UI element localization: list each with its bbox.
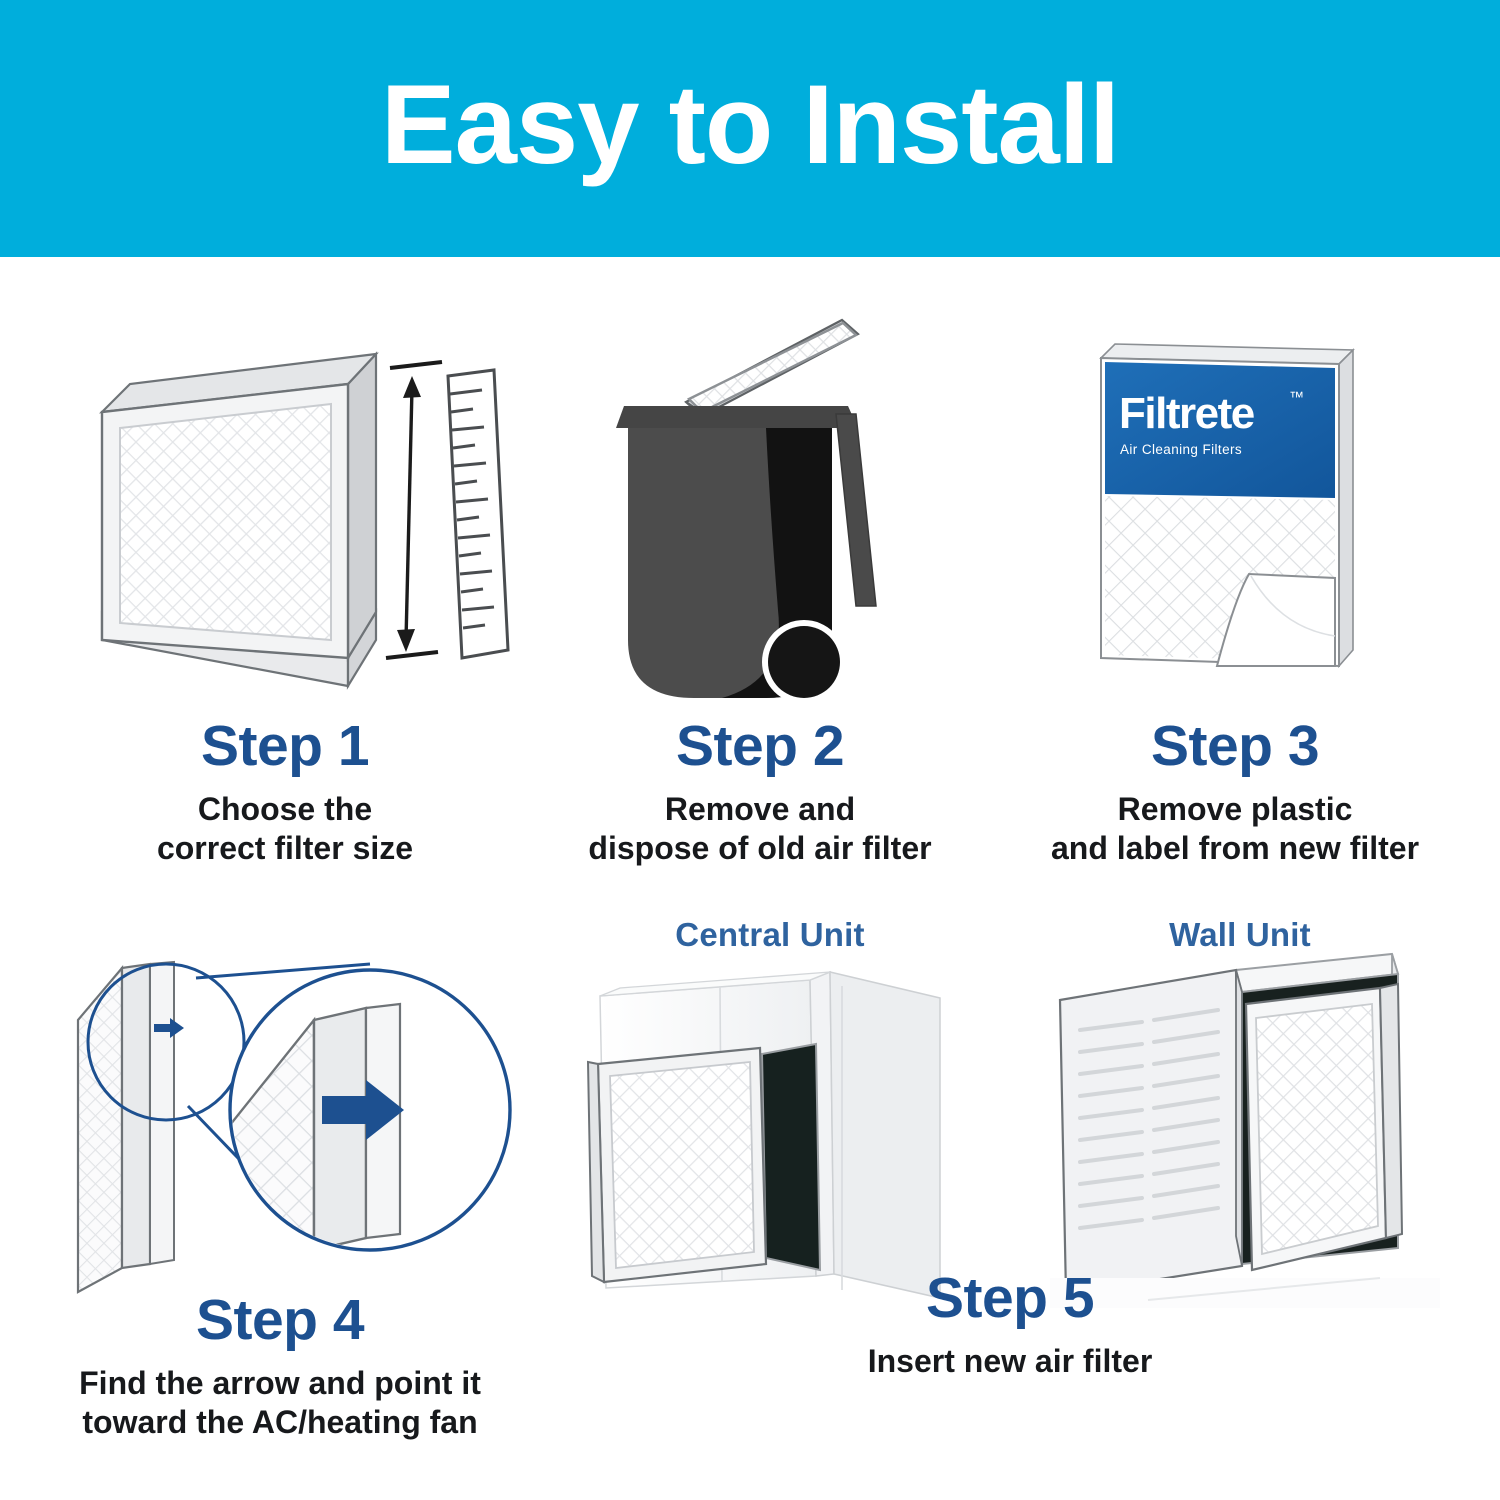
- header-banner: Easy to Install: [0, 0, 1500, 257]
- step-2-caption-line-2: dispose of old air filter: [520, 829, 1000, 868]
- trash-bin-with-filter-icon: [590, 310, 930, 710]
- package-tagline-text: Air Cleaning Filters: [1120, 442, 1242, 457]
- step-3-cell: Filtrete ™ Air Cleaning Filters Step 3 R…: [990, 300, 1480, 880]
- page-title: Easy to Install: [381, 69, 1119, 189]
- step-3-caption-line-1: Remove plastic: [990, 790, 1480, 829]
- step-5-caption: Insert new air filter: [760, 1342, 1260, 1381]
- step-1-caption: Choose the correct filter size: [30, 790, 540, 868]
- filtrete-package-icon: Filtrete ™ Air Cleaning Filters: [1085, 328, 1385, 698]
- wall-unit-label: Wall Unit: [1020, 918, 1460, 951]
- step-3-caption: Remove plastic and label from new filter: [990, 790, 1480, 868]
- central-unit-cell: Central Unit: [560, 900, 980, 1320]
- step-4-label: Step 4: [20, 1292, 540, 1349]
- step-2-label: Step 2: [520, 718, 1000, 775]
- step-1-caption-line-2: correct filter size: [30, 829, 540, 868]
- step-1-cell: Step 1 Choose the correct filter size: [30, 300, 540, 880]
- step-2-caption-line-1: Remove and: [520, 790, 1000, 829]
- step-3-label: Step 3: [990, 718, 1480, 775]
- step-4-caption: Find the arrow and point it toward the A…: [20, 1364, 540, 1442]
- package-trademark-text: ™: [1289, 389, 1304, 406]
- central-unit-label: Central Unit: [560, 918, 980, 951]
- step-5-label: Step 5: [760, 1270, 1260, 1327]
- step-2-caption: Remove and dispose of old air filter: [520, 790, 1000, 868]
- step-4-cell: Step 4 Find the arrow and point it towar…: [20, 900, 540, 1460]
- infographic-page: Easy to Install: [0, 0, 1500, 1500]
- central-unit-icon: [580, 958, 950, 1308]
- wall-unit-icon: [1050, 948, 1440, 1308]
- package-brand-text: Filtrete: [1119, 389, 1254, 438]
- wall-unit-cell: Wall Unit: [1020, 900, 1460, 1320]
- filter-airflow-arrow-magnifier-icon: [70, 920, 510, 1300]
- step-1-label: Step 1: [30, 718, 540, 775]
- step-4-caption-line-1: Find the arrow and point it: [20, 1364, 540, 1403]
- step-5-cell: Step 5 Insert new air filter: [760, 1270, 1260, 1410]
- step-1-caption-line-1: Choose the: [30, 790, 540, 829]
- step-4-caption-line-2: toward the AC/heating fan: [20, 1403, 540, 1442]
- filter-with-ruler-icon: [90, 340, 510, 700]
- step-5-caption-line-1: Insert new air filter: [760, 1342, 1260, 1381]
- step-2-cell: Step 2 Remove and dispose of old air fil…: [520, 300, 1000, 880]
- step-3-caption-line-2: and label from new filter: [990, 829, 1480, 868]
